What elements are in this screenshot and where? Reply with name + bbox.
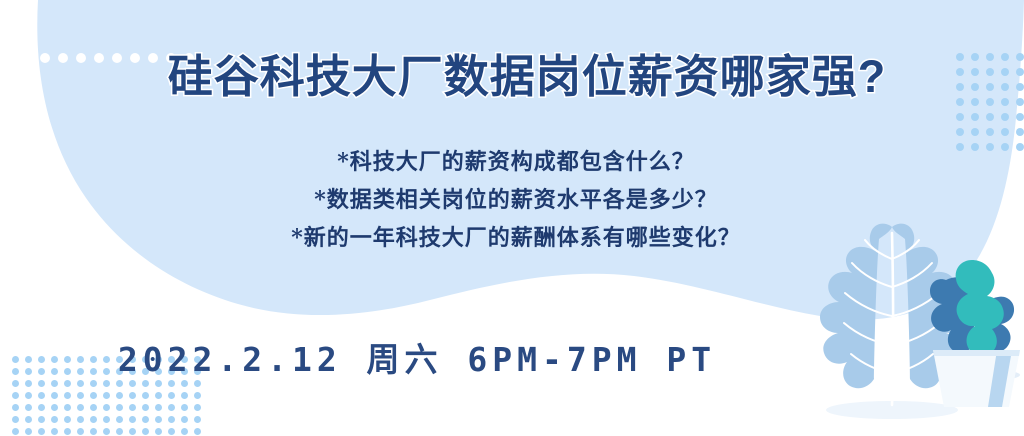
page-title: 硅谷科技大厂数据岗位薪资哪家强? xyxy=(0,48,1024,106)
event-banner: 硅谷科技大厂数据岗位薪资哪家强? *科技大厂的薪资构成都包含什么？ *数据类相关… xyxy=(0,0,1024,436)
bullet-list: *科技大厂的薪资构成都包含什么？ *数据类相关岗位的薪资水平各是多少？ *新的一… xyxy=(0,143,1024,257)
banner-content: 硅谷科技大厂数据岗位薪资哪家强? *科技大厂的薪资构成都包含什么？ *数据类相关… xyxy=(0,0,1024,436)
event-datetime: 2022.2.12 周六 6PM-7PM PT xyxy=(0,339,1024,381)
bullet-item: *科技大厂的薪资构成都包含什么？ xyxy=(8,143,1024,181)
bullet-item: *新的一年科技大厂的薪酬体系有哪些变化？ xyxy=(8,219,1024,257)
bullet-item: *数据类相关岗位的薪资水平各是多少？ xyxy=(8,181,1024,219)
